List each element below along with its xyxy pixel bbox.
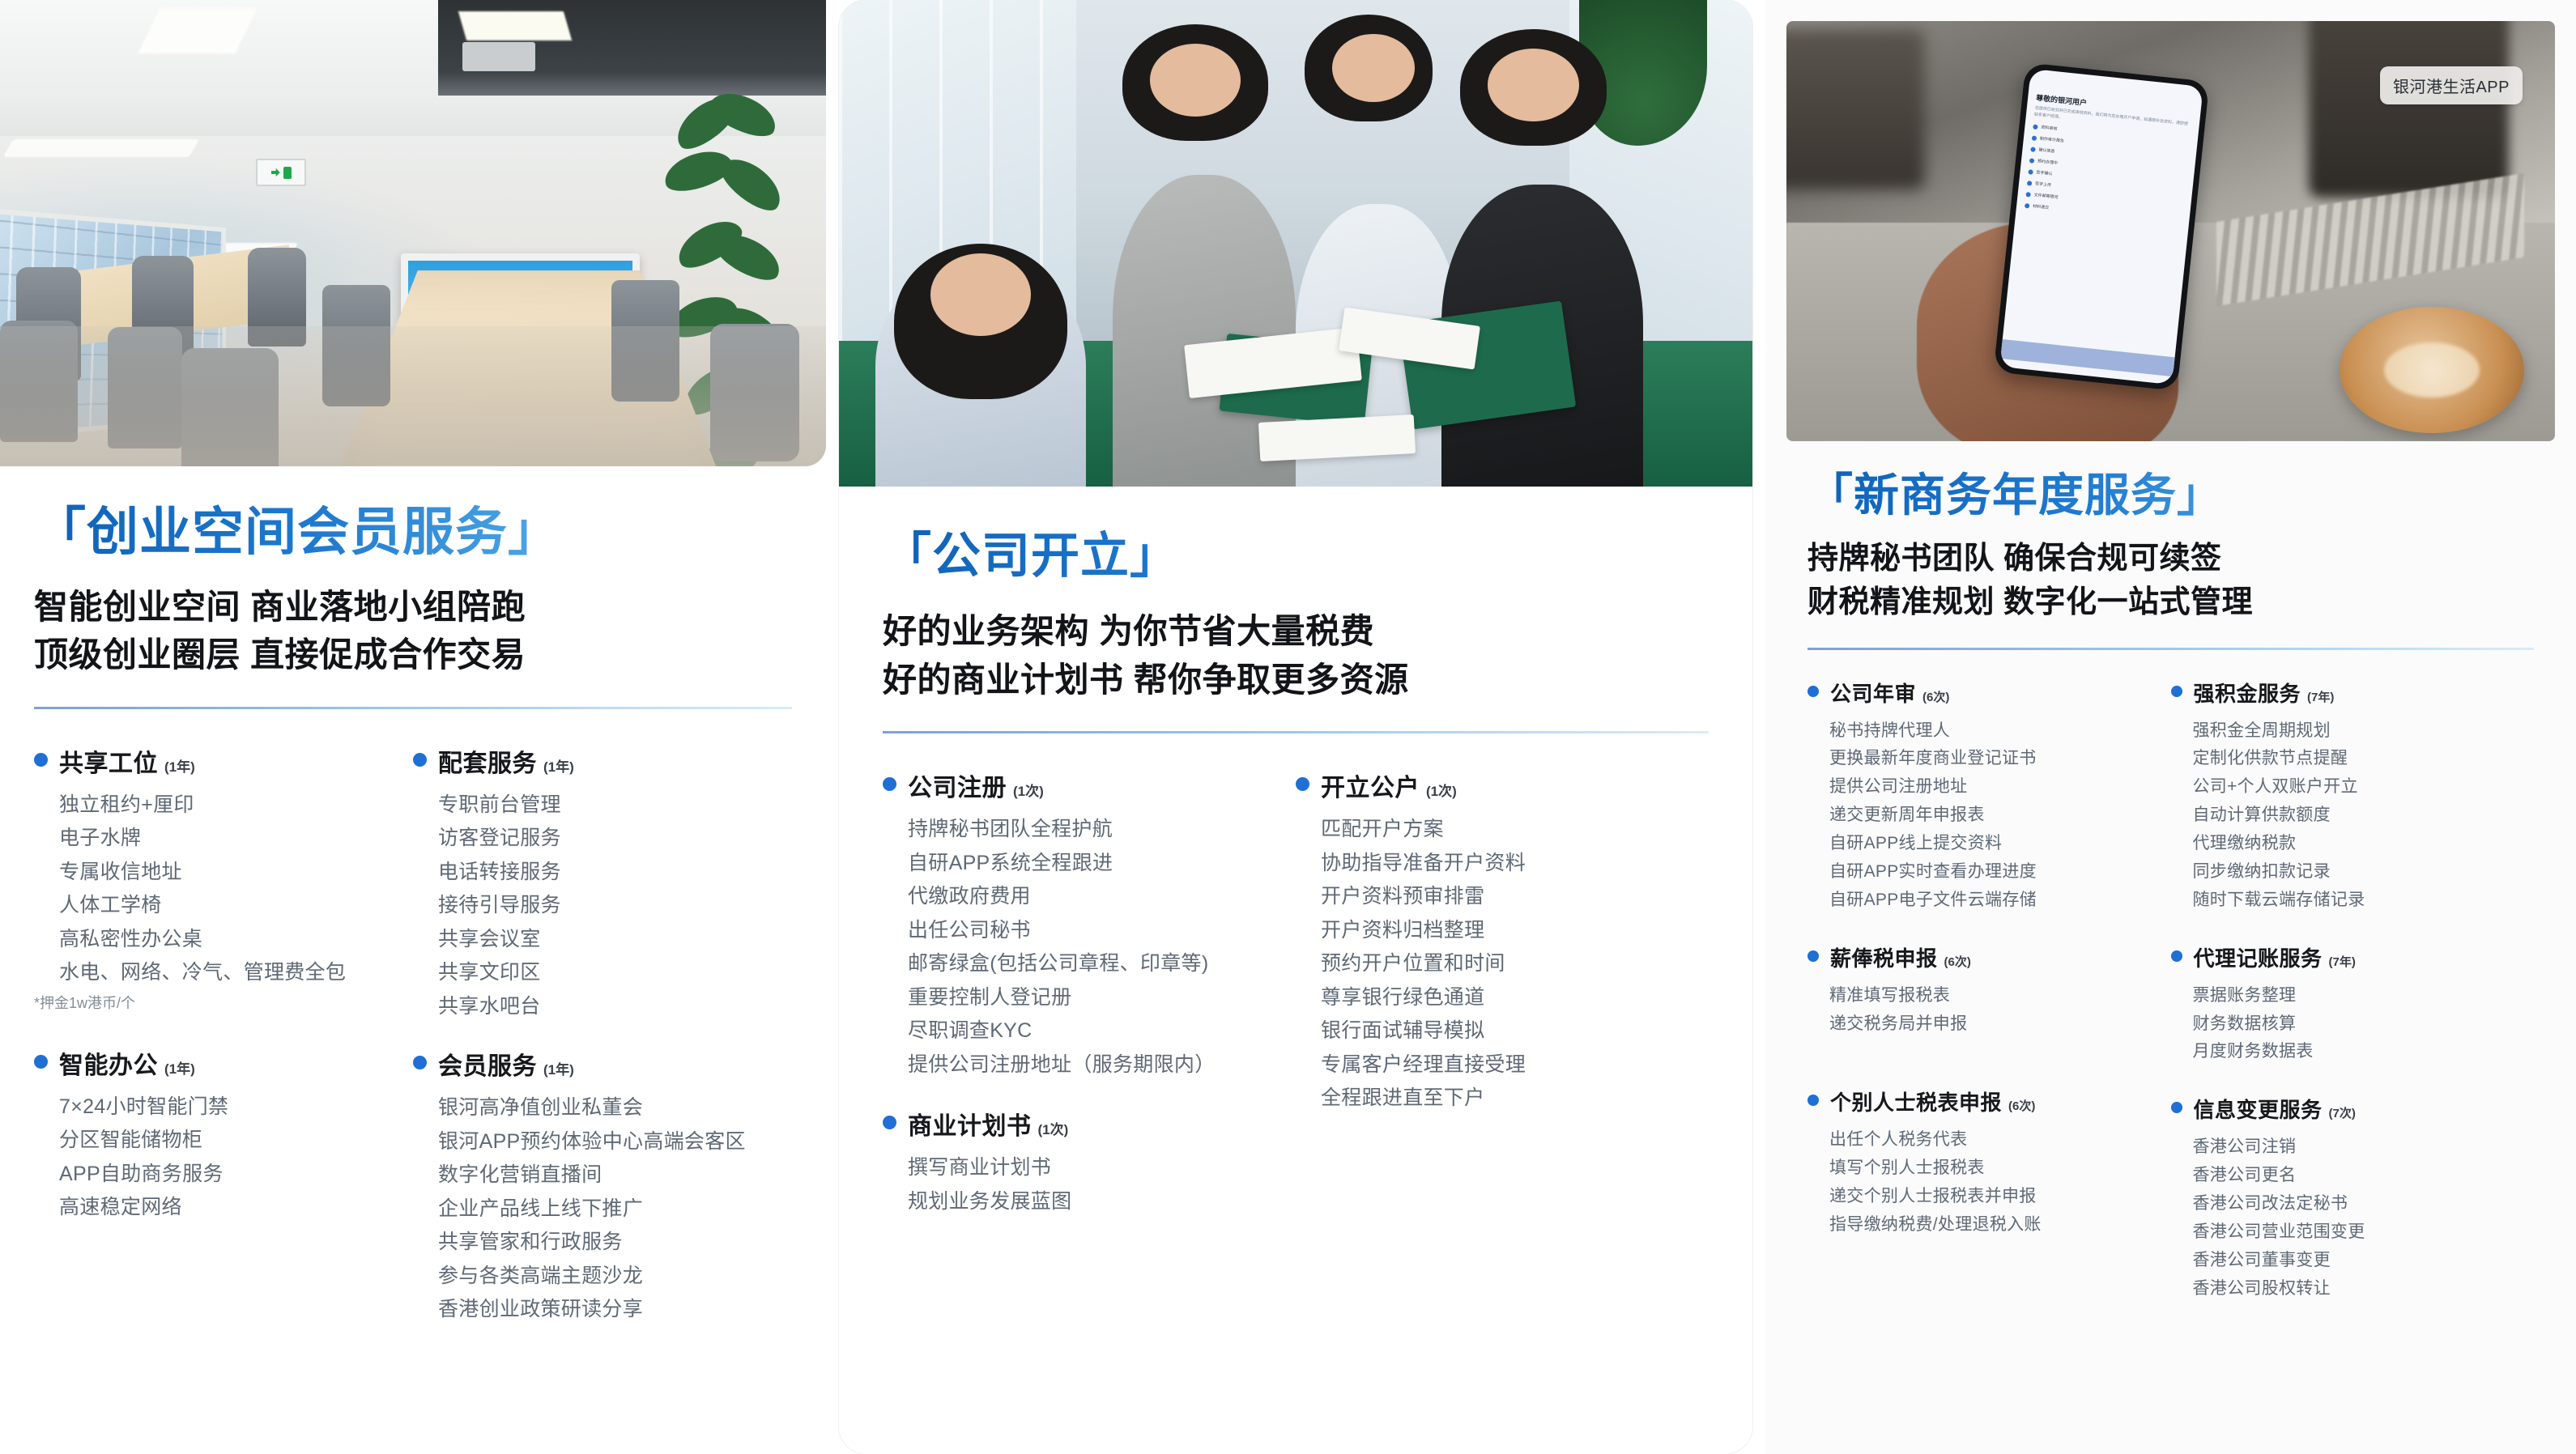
column-right: 强积金服务 (7年) 强积金全周期规划 定制化供款节点提醒 公司+个人双账户开立… xyxy=(2171,650,2535,1303)
list-item: 电子水牌 xyxy=(59,822,413,856)
group-quantity: (6次) xyxy=(2008,1097,2035,1114)
list-item: 尽职调查KYC xyxy=(908,1014,1296,1048)
list-item: 秘书持牌代理人 xyxy=(1829,717,2171,746)
group-items: 撰写商业计划书 规划业务发展蓝图 xyxy=(908,1151,1296,1218)
list-item: 自研APP实时查看办理进度 xyxy=(1829,858,2171,886)
card-incorporation: 「公司开立」 好的业务架构 为你节省大量税费 好的商业计划书 帮你争取更多资源 … xyxy=(839,0,1752,1454)
card-title-incorporation: 「公司开立」 xyxy=(883,529,1709,583)
list-item: 共享文印区 xyxy=(438,956,792,990)
list-item: 电话转接服务 xyxy=(438,856,792,890)
group-quantity: (6次) xyxy=(1944,953,1971,970)
group-quantity: (1次) xyxy=(1038,1118,1069,1138)
list-item: 开户资料预审排雷 xyxy=(1321,880,1709,914)
group-items: 匹配开户方案 协助指导准备开户资料 开户资料预审排雷 开户资料归档整理 预约开户… xyxy=(1321,813,1709,1116)
list-item: 专属收信地址 xyxy=(59,856,413,890)
group-bookkeeping: 代理记账服务 (7年) 票据账务整理 财务数据核算 月度财务数据表 xyxy=(2171,942,2535,1067)
group-title: 会员服务 xyxy=(438,1046,537,1082)
office-meeting-room-photo: 16:32 2023年9月9日 星期六 xyxy=(0,0,826,466)
list-item: 预约开户位置和时间 xyxy=(1321,947,1709,981)
card-subtitle-line-2: 好的商业计划书 帮你争取更多资源 xyxy=(883,656,1709,704)
group-annual-return: 公司年审 (6次) 秘书持牌代理人 更换最新年度商业登记证书 提供公司注册地址 … xyxy=(1807,678,2171,915)
group-company-registration: 公司注册 (1次) 持牌秘书团队全程护航 自研APP系统全程跟进 代缴政府费用 … xyxy=(883,767,1296,1082)
card-subtitle-line-1: 智能创业空间 商业落地小组陪跑 xyxy=(34,583,792,631)
group-title: 智能办公 xyxy=(59,1045,158,1081)
list-item: 出任公司秘书 xyxy=(908,914,1296,948)
group-quantity: (1年) xyxy=(164,1057,195,1078)
group-business-plan: 商业计划书 (1次) 撰写商业计划书 规划业务发展蓝图 xyxy=(883,1106,1296,1218)
list-item: 自研APP系统全程跟进 xyxy=(908,847,1296,881)
app-name-badge: 银河港生活APP xyxy=(2380,66,2523,104)
bullet-dot-icon xyxy=(1807,1095,1819,1106)
list-item: 高私密性办公桌 xyxy=(59,923,413,957)
group-title: 公司年审 xyxy=(1830,678,1916,708)
list-item: 匹配开户方案 xyxy=(1321,813,1709,847)
group-title: 薪俸税申报 xyxy=(1830,942,1938,972)
list-item: 银河APP预约体验中心高端会客区 xyxy=(438,1125,792,1159)
bullet-dot-icon xyxy=(2171,950,2182,962)
list-item: 7×24小时智能门禁 xyxy=(59,1090,413,1125)
list-item: 同步缴纳扣款记录 xyxy=(2193,858,2535,886)
group-quantity: (1次) xyxy=(1426,780,1457,800)
list-item: 访客登记服务 xyxy=(438,822,792,856)
list-item: 香港公司董事变更 xyxy=(2193,1247,2535,1275)
column-right: 开立公户 (1次) 匹配开户方案 协助指导准备开户资料 开户资料预审排雷 开户资… xyxy=(1296,733,1709,1218)
list-item: 随时下载云端存储记录 xyxy=(2193,886,2535,915)
list-item: 月度财务数据表 xyxy=(2193,1038,2535,1066)
group-title: 个别人士税表申报 xyxy=(1830,1086,2002,1116)
list-item: 财务数据核算 xyxy=(2193,1010,2535,1039)
list-item: 公司+个人双账户开立 xyxy=(2193,773,2535,801)
group-items: 票据账务整理 财务数据核算 月度财务数据表 xyxy=(2193,982,2535,1067)
bullet-dot-icon xyxy=(413,753,427,767)
phone-mockup: 尊敬的银河用户 您提供已收到并已完成审核资料，我们将为您办理开户申请，如遇需补充… xyxy=(1994,62,2210,391)
list-item: 协助指导准备开户资料 xyxy=(1321,847,1709,881)
list-item: 持牌秘书团队全程护航 xyxy=(908,813,1296,847)
group-salaries-tax: 薪俸税申报 (6次) 精准填写报税表 递交税务局并申报 xyxy=(1807,942,2171,1039)
list-item: 共享会议室 xyxy=(438,923,792,957)
group-title: 商业计划书 xyxy=(908,1106,1032,1142)
group-quantity: (1年) xyxy=(543,1058,574,1078)
list-item: 更换最新年度商业登记证书 xyxy=(1829,745,2171,773)
list-item: 代理缴纳税款 xyxy=(2193,830,2535,858)
list-item: 撰写商业计划书 xyxy=(908,1151,1296,1185)
group-individual-tax: 个别人士税表申报 (6次) 出任个人税务代表 填写个别人士报税表 递交个别人士报… xyxy=(1807,1086,2171,1239)
group-quantity: (6次) xyxy=(1922,688,1949,705)
list-item: 香港公司营业范围变更 xyxy=(2193,1218,2535,1247)
team-reviewing-documents-photo xyxy=(839,0,1752,487)
list-item: 代缴政府费用 xyxy=(908,880,1296,914)
group-member-services: 会员服务 (1年) 银河高净值创业私董会 银河APP预约体验中心高端会客区 数字… xyxy=(413,1046,792,1327)
list-item: 定制化供款节点提醒 xyxy=(2193,745,2535,773)
group-bank-account: 开立公户 (1次) 匹配开户方案 协助指导准备开户资料 开户资料预审排雷 开户资… xyxy=(1296,767,1709,1116)
list-item: 递交税务局并申报 xyxy=(1829,1010,2171,1039)
list-item: 自动计算供款额度 xyxy=(2193,801,2535,830)
group-info-change: 信息变更服务 (7次) 香港公司注销 香港公司更名 香港公司改法定秘书 香港公司… xyxy=(2171,1094,2535,1303)
list-item: 银河高净值创业私董会 xyxy=(438,1091,792,1125)
group-quantity: (7年) xyxy=(2307,688,2334,705)
list-item: 精准填写报税表 xyxy=(1829,982,2171,1010)
list-item: 专职前台管理 xyxy=(438,789,792,823)
group-items: 7×24小时智能门禁 分区智能储物柜 APP自助商务服务 高速稳定网络 xyxy=(59,1090,413,1225)
list-item: 银行面试辅导模拟 xyxy=(1321,1014,1709,1048)
bullet-dot-icon xyxy=(34,1055,48,1069)
list-item: 开户资料归档整理 xyxy=(1321,914,1709,948)
group-quantity: (1年) xyxy=(543,755,574,776)
column-left: 公司年审 (6次) 秘书持牌代理人 更换最新年度商业登记证书 提供公司注册地址 … xyxy=(1807,650,2171,1303)
list-item: 水电、网络、冷气、管理费全包 xyxy=(59,956,413,990)
group-quantity: (7年) xyxy=(2329,953,2356,970)
list-item: 参与各类高端主题沙龙 xyxy=(438,1260,792,1294)
list-item: 递交更新周年申报表 xyxy=(1829,801,2171,830)
hand-holding-phone-photo: 尊敬的银河用户 您提供已收到并已完成审核资料，我们将为您办理开户申请，如遇需补充… xyxy=(1786,21,2555,441)
group-items: 独立租约+厘印 电子水牌 专属收信地址 人体工学椅 高私密性办公桌 水电、网络、… xyxy=(59,789,413,990)
list-item: 企业产品线上线下推广 xyxy=(438,1193,792,1227)
card-subtitle-line-1: 好的业务架构 为你节省大量税费 xyxy=(883,607,1709,656)
group-title: 开立公户 xyxy=(1321,767,1420,803)
list-item: 分区智能储物柜 xyxy=(59,1124,413,1158)
list-item: 规划业务发展蓝图 xyxy=(908,1185,1296,1219)
list-item: 填写个别人士报税表 xyxy=(1829,1154,2171,1183)
bullet-dot-icon xyxy=(1807,686,1819,697)
bullet-dot-icon xyxy=(2171,1102,2182,1113)
list-item: 独立租约+厘印 xyxy=(59,789,413,823)
card-subtitle-line-2: 财税精准规划 数字化一站式管理 xyxy=(1807,581,2534,625)
list-item: 接待引导服务 xyxy=(438,889,792,923)
group-items: 持牌秘书团队全程护航 自研APP系统全程跟进 代缴政府费用 出任公司秘书 邮寄绿… xyxy=(908,813,1296,1082)
group-support-services: 配套服务 (1年) 专职前台管理 访客登记服务 电话转接服务 接待引导服务 共享… xyxy=(413,743,792,1024)
list-item: 高速稳定网络 xyxy=(59,1191,413,1225)
group-title: 强积金服务 xyxy=(2194,678,2301,708)
column-right: 配套服务 (1年) 专职前台管理 访客登记服务 电话转接服务 接待引导服务 共享… xyxy=(413,709,792,1327)
bullet-dot-icon xyxy=(883,777,896,791)
bullet-dot-icon xyxy=(413,1056,427,1069)
list-item: 提供公司注册地址（服务期限内） xyxy=(908,1048,1296,1082)
bullet-dot-icon xyxy=(883,1116,896,1129)
group-title: 信息变更服务 xyxy=(2194,1094,2323,1124)
list-item: 数字化营销直播间 xyxy=(438,1159,792,1193)
list-item: 全程跟进直至下户 xyxy=(1321,1082,1709,1116)
card-title-membership: 「创业空间会员服务」 xyxy=(34,504,792,562)
group-items: 强积金全周期规划 定制化供款节点提醒 公司+个人双账户开立 自动计算供款额度 代… xyxy=(2193,717,2535,915)
group-quantity: (7次) xyxy=(2329,1104,2356,1121)
card-title-annual-service: 「新商务年度服务」 xyxy=(1807,470,2534,521)
bullet-dot-icon xyxy=(2171,686,2182,697)
list-item: 共享水吧台 xyxy=(438,990,792,1024)
group-items: 精准填写报税表 递交税务局并申报 xyxy=(1829,982,2171,1039)
list-item: 票据账务整理 xyxy=(2193,982,2535,1010)
list-item: 自研APP电子文件云端存储 xyxy=(1829,886,2171,915)
list-item: 香港公司股权转让 xyxy=(2193,1275,2535,1303)
poster-stage: 16:32 2023年9月9日 星期六 xyxy=(0,0,2576,1454)
list-item: 递交个别人士报税表并申报 xyxy=(1829,1183,2171,1211)
bullet-dot-icon xyxy=(1807,950,1819,962)
card-subtitle-line-2: 顶级创业圈层 直接促成合作交易 xyxy=(34,631,792,679)
list-item: 香港公司注销 xyxy=(2193,1133,2535,1162)
group-quantity: (1年) xyxy=(164,755,195,776)
bullet-dot-icon xyxy=(1296,777,1309,791)
card-subtitle-line-1: 持牌秘书团队 确保合规可续签 xyxy=(1807,538,2534,581)
list-item: 提供公司注册地址 xyxy=(1829,773,2171,801)
group-title: 公司注册 xyxy=(908,767,1007,803)
group-items: 专职前台管理 访客登记服务 电话转接服务 接待引导服务 共享会议室 共享文印区 … xyxy=(438,789,792,1024)
group-items: 银河高净值创业私董会 银河APP预约体验中心高端会客区 数字化营销直播间 企业产… xyxy=(438,1091,792,1327)
list-item: 出任个人税务代表 xyxy=(1829,1126,2171,1154)
list-item: 香港公司改法定秘书 xyxy=(2193,1190,2535,1218)
list-item: APP自助商务服务 xyxy=(59,1158,413,1192)
group-items: 出任个人税务代表 填写个别人士报税表 递交个别人士报税表并申报 指导缴纳税费/处… xyxy=(1829,1126,2171,1239)
bullet-dot-icon xyxy=(34,753,48,767)
group-title: 代理记账服务 xyxy=(2194,942,2323,972)
card-annual-service: 尊敬的银河用户 您提供已收到并已完成审核资料，我们将为您办理开户申请，如遇需补充… xyxy=(1765,0,2576,1454)
list-item: 人体工学椅 xyxy=(59,889,413,923)
list-item: 香港公司更名 xyxy=(2193,1162,2535,1190)
card-membership: 16:32 2023年9月9日 星期六 xyxy=(0,0,826,1454)
list-item: 共享管家和行政服务 xyxy=(438,1226,792,1260)
group-shared-desk: 共享工位 (1年) 独立租约+厘印 电子水牌 专属收信地址 人体工学椅 高私密性… xyxy=(34,743,413,1013)
group-note: *押金1w港币/个 xyxy=(34,992,413,1013)
list-item: 邮寄绿盒(包括公司章程、印章等) xyxy=(908,947,1296,981)
group-smart-office: 智能办公 (1年) 7×24小时智能门禁 分区智能储物柜 APP自助商务服务 高… xyxy=(34,1045,413,1225)
group-title: 配套服务 xyxy=(438,743,537,779)
list-item: 指导缴纳税费/处理退税入账 xyxy=(1829,1211,2171,1239)
group-mpf-service: 强积金服务 (7年) 强积金全周期规划 定制化供款节点提醒 公司+个人双账户开立… xyxy=(2171,678,2535,915)
column-left: 公司注册 (1次) 持牌秘书团队全程护航 自研APP系统全程跟进 代缴政府费用 … xyxy=(883,733,1296,1218)
exit-sign-icon xyxy=(256,159,306,186)
list-item: 专属客户经理直接受理 xyxy=(1321,1048,1709,1082)
list-item: 重要控制人登记册 xyxy=(908,981,1296,1015)
column-left: 共享工位 (1年) 独立租约+厘印 电子水牌 专属收信地址 人体工学椅 高私密性… xyxy=(34,709,413,1327)
group-items: 秘书持牌代理人 更换最新年度商业登记证书 提供公司注册地址 递交更新周年申报表 … xyxy=(1829,717,2171,915)
group-quantity: (1次) xyxy=(1013,780,1044,800)
list-item: 强积金全周期规划 xyxy=(2193,717,2535,746)
group-items: 香港公司注销 香港公司更名 香港公司改法定秘书 香港公司营业范围变更 香港公司董… xyxy=(2193,1133,2535,1303)
list-item: 自研APP线上提交资料 xyxy=(1829,830,2171,858)
list-item: 尊享银行绿色通道 xyxy=(1321,981,1709,1015)
group-title: 共享工位 xyxy=(59,743,158,779)
list-item: 香港创业政策研读分享 xyxy=(438,1293,792,1327)
